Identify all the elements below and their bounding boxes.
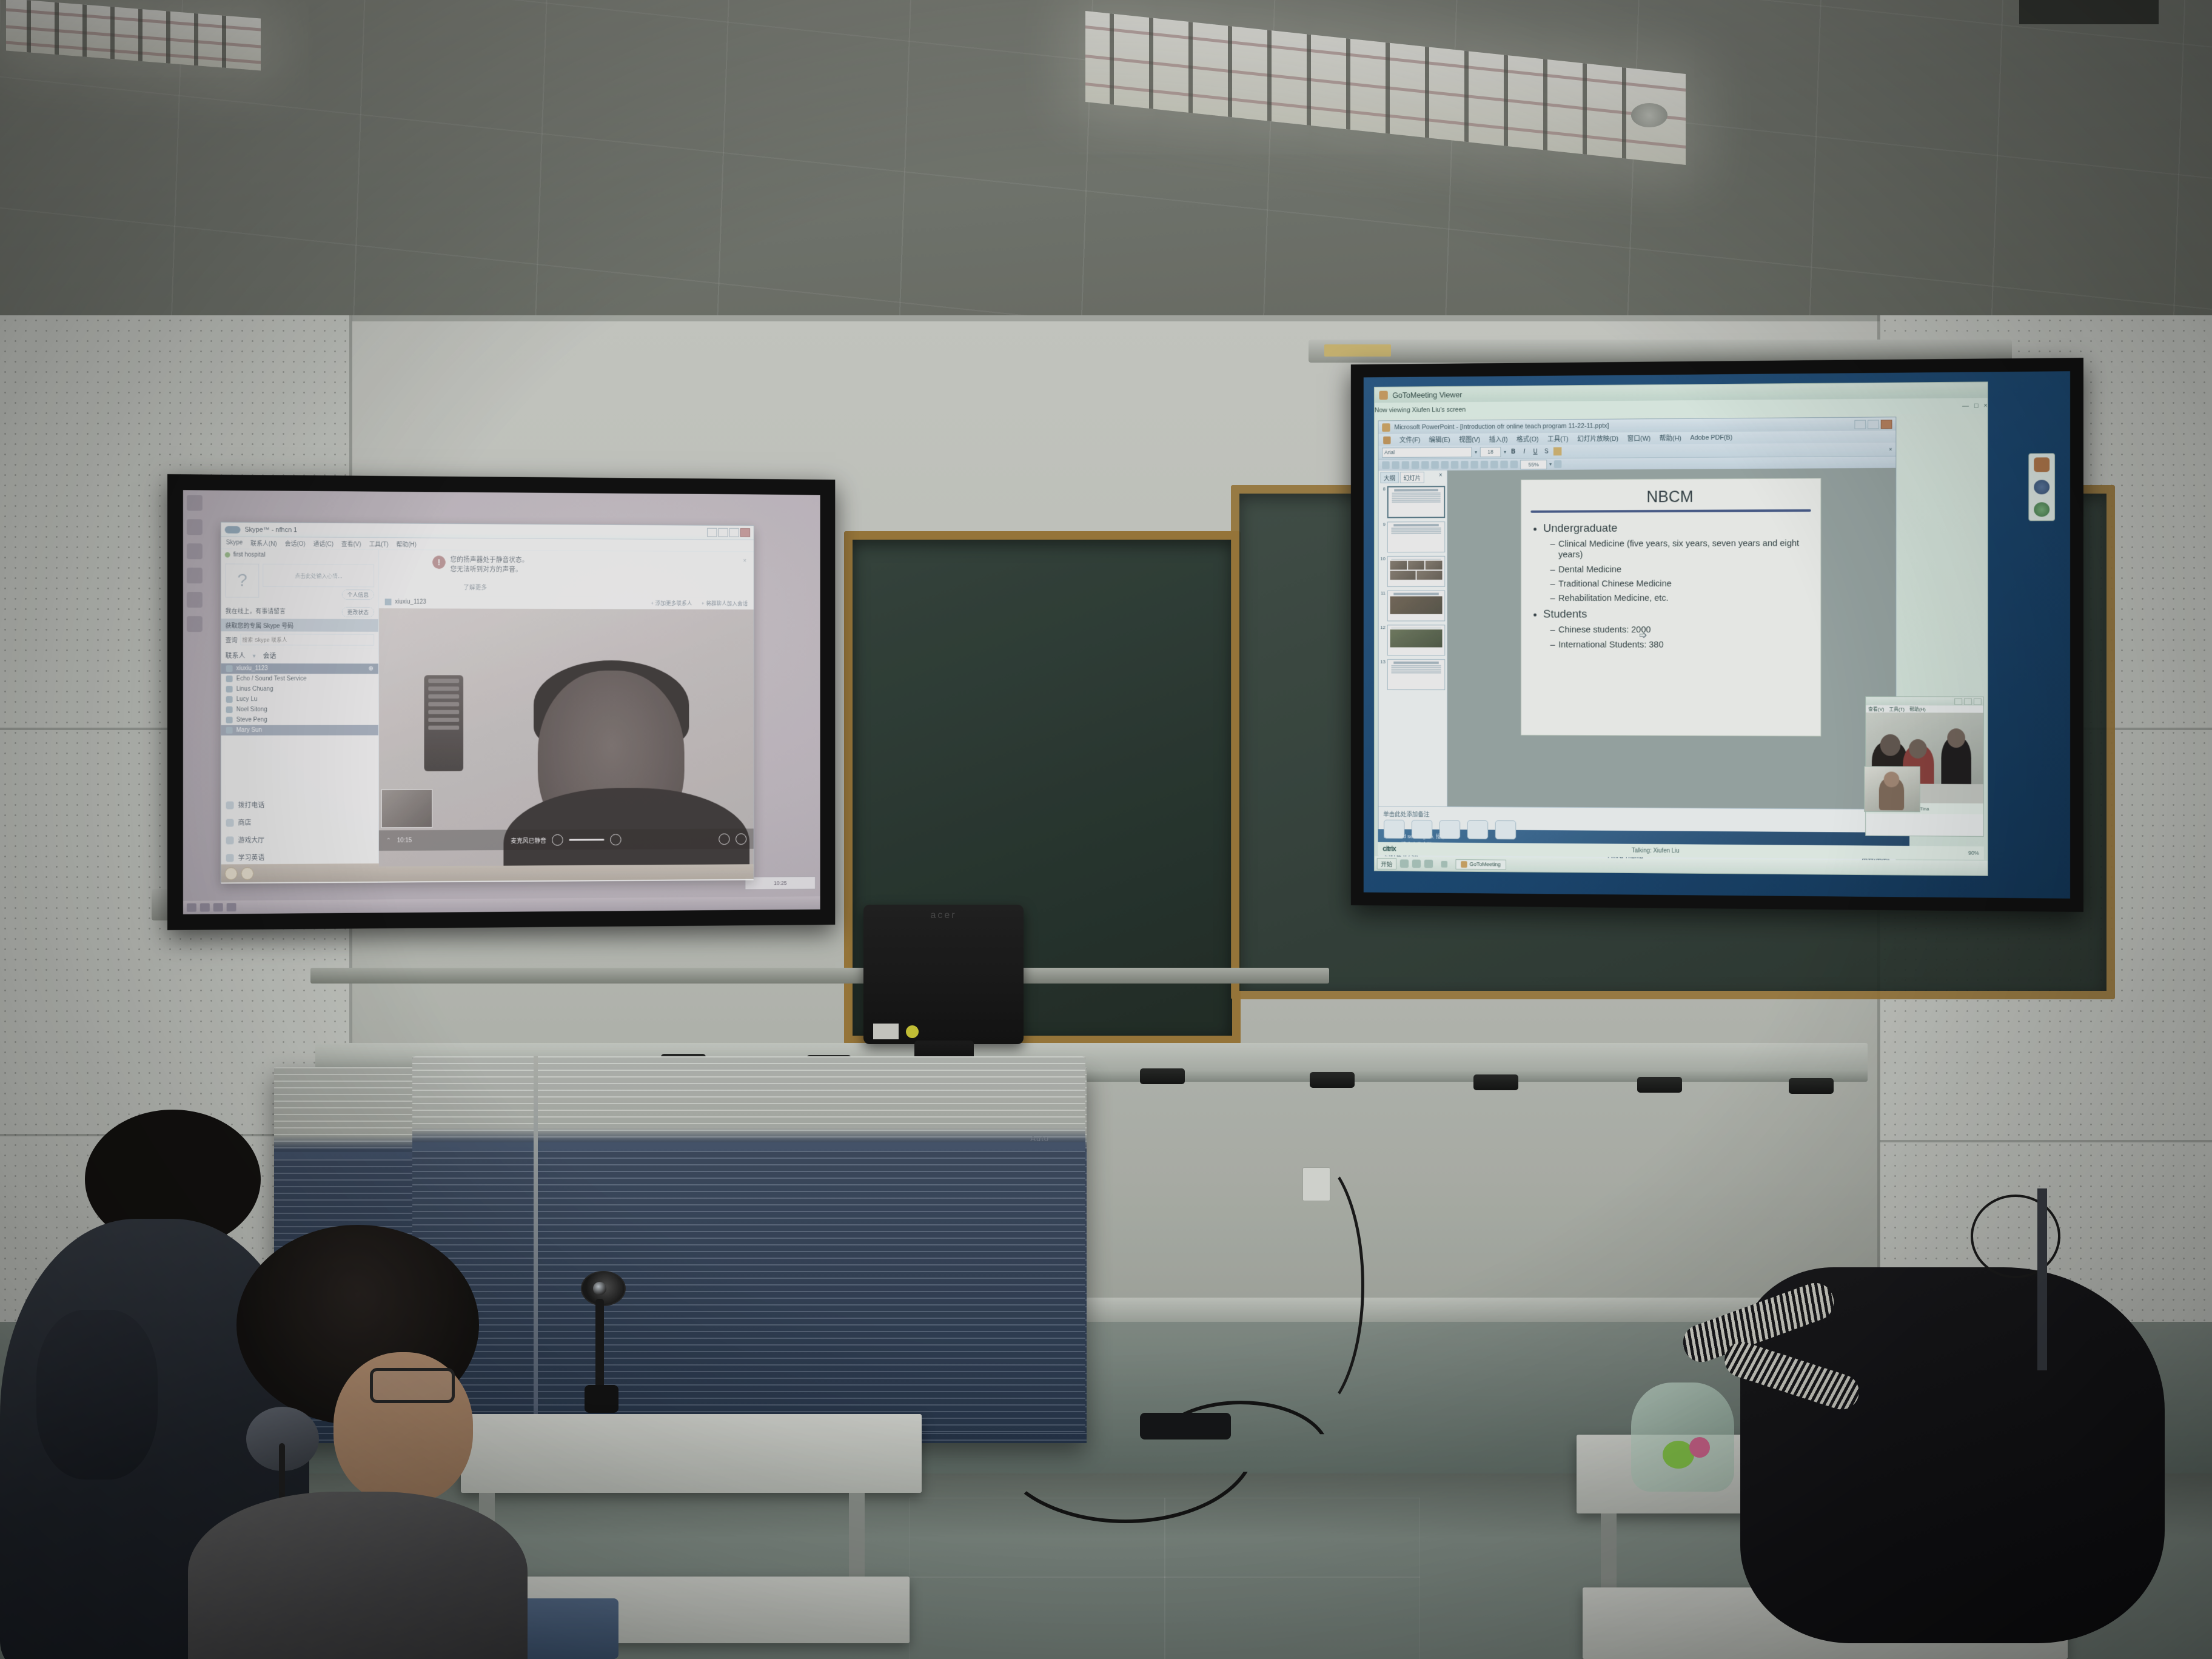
slide-thumbnail[interactable]: 9 <box>1379 520 1447 554</box>
skype-menu-item-0[interactable]: Skype <box>226 540 243 546</box>
ppt-menu-2[interactable]: 视图(V) <box>1459 435 1480 444</box>
slide-thumbnail[interactable]: 8 <box>1379 484 1447 520</box>
cable-coil <box>1140 1413 1231 1439</box>
skype-main-pane: ! 您的扬声器处于静音状态。 您无法听到对方的声音。 × 了解更多 xiuxiu… <box>379 550 754 883</box>
underline-button[interactable]: U <box>1531 447 1539 456</box>
contact-name-5: Steve Peng <box>236 717 267 723</box>
skype-account-name: first hospital <box>233 552 266 558</box>
ppt-menu-7[interactable]: 窗口(W) <box>1627 434 1651 443</box>
end-call-button[interactable] <box>736 833 746 845</box>
contact-avatar-icon <box>226 706 233 713</box>
current-slide: NBCM Undergraduate Clinical Medicine (fi… <box>1521 478 1821 736</box>
contact-row[interactable]: Linus Chuang <box>221 684 378 694</box>
contact-name-4: Noel Sitong <box>236 706 267 713</box>
call-controls[interactable]: ⌃ 10:15 麦克风已静音 <box>379 829 754 851</box>
gotomeeting-icon <box>1379 390 1387 400</box>
save-icon[interactable] <box>1402 461 1409 469</box>
contact-name-2: Linus Chuang <box>236 686 273 692</box>
copy-icon[interactable] <box>1451 461 1458 469</box>
mood-message-text: 点击此处输入心情... <box>295 571 343 579</box>
book-icon <box>226 854 234 862</box>
tab-conversations[interactable]: 会话 <box>263 651 276 660</box>
font-name-select[interactable]: Arial <box>1382 447 1472 458</box>
ppt-menu-9[interactable]: Adobe PDF(B) <box>1690 434 1732 441</box>
dock-icon-pdf[interactable] <box>1439 820 1460 839</box>
call-timer: 10:15 <box>397 837 412 844</box>
slide-bullet-1: Students Chinese students: 2000 Internat… <box>1543 608 1811 651</box>
ceiling <box>0 0 2212 340</box>
sidebar-item-store[interactable]: 商店 <box>221 813 378 831</box>
tab-slides[interactable]: 幻灯片 <box>1400 472 1424 483</box>
phone-icon <box>226 665 233 672</box>
webcam-menu-1[interactable]: 工具(T) <box>1889 706 1905 712</box>
dock-icon-browser[interactable] <box>1384 820 1404 839</box>
webcam-panel-menu[interactable]: 查看(V) 工具(T) 帮助(H) <box>1866 705 1983 712</box>
speaker <box>1473 1074 1518 1090</box>
italic-button[interactable]: I <box>1520 447 1528 456</box>
add-contacts-button[interactable]: + 添加更多联系人 <box>651 599 692 607</box>
wall-top-trim <box>352 315 1880 321</box>
slide-bullet-text-0: Undergraduate <box>1543 522 1617 535</box>
webcam-menu-0[interactable]: 查看(V) <box>1868 706 1884 712</box>
game-icon <box>226 836 234 844</box>
spellcheck-icon[interactable] <box>1431 461 1438 469</box>
redo-icon[interactable] <box>1481 461 1488 469</box>
thumb-number-2: 10 <box>1380 556 1386 561</box>
slide-bullet-list: Undergraduate Clinical Medicine (five ye… <box>1530 521 1811 651</box>
speaker <box>1789 1078 1834 1094</box>
ppt-menu-1[interactable]: 编辑(E) <box>1429 435 1450 444</box>
panel-seam-h4 <box>1880 1140 2212 1142</box>
ppt-menu-5[interactable]: 工具(T) <box>1547 434 1569 444</box>
skype-menu-item-4[interactable]: 查看(V) <box>341 539 361 548</box>
gtm-maximize-button[interactable]: □ <box>1974 402 1979 409</box>
conversation-contact-name: xiuxiu_1123 <box>395 598 426 605</box>
contact-name-3: Lucy Lu <box>236 696 258 703</box>
ppt-menu-3[interactable]: 插入(I) <box>1489 434 1508 444</box>
volume-slider[interactable] <box>569 839 605 840</box>
monitor-sticker <box>873 1024 899 1039</box>
camera-lens-icon <box>593 1282 606 1295</box>
wall-outlet <box>1302 1167 1330 1201</box>
start-button[interactable]: 开始 <box>1377 858 1396 870</box>
contact-avatar-icon <box>226 727 233 734</box>
skype-sidebar[interactable]: first hospital ? 点击此处输入心情... 个人信息 <box>221 549 379 883</box>
student-desk-left <box>461 1414 922 1493</box>
skype-pin-button[interactable] <box>707 528 717 537</box>
video-call-area: ⌃ 10:15 麦克风已静音 <box>379 608 754 866</box>
skype-menu-item-2[interactable]: 会话(O) <box>285 538 306 548</box>
slide-thumbnail[interactable]: 10 <box>1379 554 1447 589</box>
skype-menu-item-5[interactable]: 工具(T) <box>369 539 388 548</box>
font-color-button[interactable] <box>1631 447 1640 455</box>
cut-icon[interactable] <box>1441 461 1449 469</box>
contact-avatar-icon <box>226 696 233 703</box>
left-desktop-tray: 10:25 <box>745 876 816 890</box>
webcam-close-button[interactable] <box>1974 698 1982 705</box>
emoticon-icon <box>241 867 254 880</box>
dock-icon-mail[interactable] <box>1495 820 1517 840</box>
print-preview-icon[interactable] <box>1421 461 1429 469</box>
contact-row[interactable]: Lucy Lu <box>221 694 378 705</box>
new-file-icon[interactable] <box>1382 461 1389 469</box>
quicklaunch-explorer-icon[interactable] <box>1412 860 1421 868</box>
office-logo-icon <box>1383 436 1390 444</box>
paste-icon[interactable] <box>1461 461 1468 469</box>
slide-subbullet: International Students: 380 <box>1550 640 1811 651</box>
ppt-menu-0[interactable]: 文件(F) <box>1399 435 1420 444</box>
webcam-panel-title-bar[interactable] <box>1866 697 1983 705</box>
insert-table-icon[interactable] <box>1490 461 1498 469</box>
decrease-font-button[interactable] <box>1620 447 1629 455</box>
contact-avatar-icon <box>226 717 233 723</box>
student-front-center <box>188 1225 528 1659</box>
fullscreen-button[interactable] <box>719 833 729 845</box>
audio-button-icon[interactable] <box>2034 480 2049 494</box>
screen-share-button-icon[interactable] <box>2034 502 2049 517</box>
slide-panel-tabs[interactable]: 大纲 幻灯片 × <box>1379 471 1447 484</box>
speaker-icon[interactable] <box>610 834 621 845</box>
notes-placeholder: 单击此处添加备注 <box>1383 811 1429 818</box>
gotomeeting-side-toolbar[interactable] <box>2028 453 2055 521</box>
new-slide-icon[interactable] <box>1510 461 1518 469</box>
mood-message-field[interactable]: 点击此处输入心情... <box>263 564 374 588</box>
citrix-logo: citrix <box>1382 845 1396 853</box>
contact-name-6: Mary Sun <box>236 727 262 734</box>
sidebar-label-3: 学习英语 <box>238 853 265 862</box>
sidebar-label-2: 游戏大厅 <box>238 835 265 845</box>
console-auto-label: Auto <box>1030 1134 1049 1143</box>
taskbar-window-gotomeeting[interactable]: GoToMeeting <box>1456 859 1506 870</box>
skype-window[interactable]: Skype™ - nfhcn 1 Skype 联系人(N) 会话(O) 通话(C… <box>221 522 754 883</box>
classroom-webcam <box>575 1271 626 1423</box>
student-arm <box>36 1310 158 1480</box>
slide-subbullet: Dental Medicine <box>1550 564 1811 575</box>
microphone-icon[interactable] <box>552 834 563 845</box>
quicklaunch-browser-icon[interactable] <box>1400 859 1409 868</box>
skype-maximize-button[interactable] <box>729 528 739 537</box>
left-taskbar-time: 10:25 <box>774 880 787 886</box>
projection-screen-left: 10:25 Skype™ - nfhcn 1 Skype <box>167 474 835 930</box>
speaker <box>1637 1077 1682 1093</box>
dock-icon-notes[interactable] <box>1467 820 1489 840</box>
mouse-cursor-icon: ➩ <box>1639 629 1647 642</box>
contact-avatar-icon <box>226 675 233 682</box>
screen-case-label <box>1324 344 1391 357</box>
contact-name-1: Echo / Sound Test Service <box>236 675 307 682</box>
store-icon <box>226 819 234 826</box>
left-desktop-icons <box>187 495 203 632</box>
viewer-zoom-badge[interactable]: 90% <box>1968 850 1979 856</box>
contact-row-selected[interactable]: xiuxiu_1123 ⊕ <box>221 663 378 674</box>
skype-status-text: 我在线上，有事请留言 <box>226 606 286 615</box>
undo-icon[interactable] <box>1470 461 1478 469</box>
profile-button[interactable]: 个人信息 <box>342 589 374 600</box>
monitor-brand-label: acer <box>863 910 1024 921</box>
skype-number-banner[interactable]: 获取您的专属 Skype 号码 <box>221 618 378 632</box>
slide-thumbnail-panel[interactable]: 大纲 幻灯片 × 8 9 <box>1379 471 1448 806</box>
student-torso <box>188 1492 528 1659</box>
number-list-button[interactable] <box>1598 447 1606 455</box>
contact-row-highlight[interactable]: Mary Sun <box>221 725 378 736</box>
gtm-close-button[interactable]: × <box>1983 402 1987 409</box>
slide-thumbnail[interactable]: 12 <box>1379 623 1447 657</box>
skype-menu-item-6[interactable]: 帮助(H) <box>396 539 416 548</box>
gtm-minimize-button[interactable]: — <box>1962 402 1969 409</box>
now-viewing-label: Now viewing Xiufen Liu's screen <box>1375 406 1466 414</box>
wall-rail <box>310 968 1329 984</box>
speaker-muted-alert: ! 您的扬声器处于静音状态。 您无法听到对方的声音。 × <box>379 550 754 578</box>
thumb-number-3: 11 <box>1380 591 1386 596</box>
skype-close-button[interactable] <box>740 528 750 537</box>
speaker <box>1140 1068 1185 1084</box>
self-view-thumbnail[interactable] <box>381 789 432 828</box>
skype-window-title: Skype™ - nfhcn 1 <box>244 526 297 533</box>
ceiling-sensor <box>1631 103 1667 127</box>
slide-subbullet: Traditional Chinese Medicine <box>1550 578 1811 590</box>
thumb-number-1: 9 <box>1380 521 1386 527</box>
close-icon[interactable]: × <box>743 557 746 576</box>
webcam-video-feed-small <box>1865 766 1920 811</box>
slide-bullet-text-1: Students <box>1543 608 1587 621</box>
avatar[interactable]: ? <box>226 563 260 597</box>
contact-avatar-icon <box>385 598 392 605</box>
desktop-dock[interactable] <box>1384 820 1516 840</box>
ppt-menu-4[interactable]: 格式(O) <box>1517 434 1538 444</box>
slide-thumbnail[interactable]: 11 <box>1379 589 1447 623</box>
increase-font-button[interactable] <box>1609 447 1618 455</box>
recording-indicator-icon[interactable] <box>2034 457 2049 472</box>
plastic-bag <box>1631 1382 1734 1492</box>
zoom-select[interactable]: 55% <box>1520 460 1547 469</box>
taskbar-explorer-window[interactable] <box>1436 859 1452 868</box>
ppt-close-button[interactable] <box>1881 420 1892 429</box>
skype-account-row[interactable]: first hospital <box>221 549 378 561</box>
ceiling-vent <box>2019 0 2159 24</box>
contact-row[interactable]: Noel Sitong <box>221 705 378 715</box>
eyeglasses-icon <box>370 1368 455 1403</box>
slide-title: NBCM <box>1530 487 1811 507</box>
font-size-select[interactable]: 18 <box>1480 447 1501 457</box>
alert-icon: ! <box>432 555 446 569</box>
skype-menu-item-3[interactable]: 通话(C) <box>313 538 333 548</box>
skype-minimize-button[interactable] <box>718 528 728 537</box>
print-icon[interactable] <box>1412 461 1419 469</box>
tab-contacts[interactable]: 联系人 <box>226 651 246 660</box>
search-input[interactable] <box>241 634 374 645</box>
webcam-base <box>585 1385 618 1413</box>
skype-tabs[interactable]: 联系人 ▾ 会话 <box>221 648 378 663</box>
bullet-list-button[interactable] <box>1587 447 1595 455</box>
contact-avatar-icon <box>226 686 233 692</box>
gotomeeting-window-title: GoToMeeting Viewer <box>1392 390 1462 400</box>
ppt-restore-button[interactable] <box>1868 420 1879 429</box>
webcam-minimize-button[interactable] <box>1964 698 1972 705</box>
align-center-button[interactable] <box>1564 447 1573 455</box>
alert-learn-more-link[interactable]: 了解更多 <box>463 582 487 591</box>
slide-canvas[interactable]: NBCM Undergraduate Clinical Medicine (fi… <box>1447 468 1895 809</box>
phone-icon <box>226 801 234 809</box>
slide-thumbnail[interactable]: 13 <box>1379 657 1447 692</box>
help-icon[interactable] <box>1554 460 1562 468</box>
webcam-panel-small[interactable] <box>1864 766 1920 812</box>
align-right-button[interactable] <box>1576 447 1584 455</box>
remote-participant-body <box>504 788 750 866</box>
skype-menu-item-1[interactable]: 联系人(N) <box>250 538 277 548</box>
powerpoint-window-title: Microsoft PowerPoint - [Introduction ofr… <box>1394 423 1609 431</box>
slide-subbullet: Chinese students: 2000 <box>1550 625 1811 636</box>
mic-status-label: 麦克风已静音 <box>511 835 546 844</box>
online-status-icon <box>225 552 230 558</box>
projection-screen-right: GoToMeeting Viewer Now viewing Xiufen Li… <box>1351 358 2083 912</box>
monitor-yellow-label <box>906 1025 919 1038</box>
tab-outline[interactable]: 大纲 <box>1380 472 1398 483</box>
thumb-number-0: 8 <box>1380 486 1386 492</box>
add-group-button[interactable]: + 将群聊人加入会话 <box>702 599 748 607</box>
emoticon-icon <box>225 867 238 880</box>
powerpoint-icon <box>1382 423 1390 432</box>
talking-status: Talking: Xiufen Liu <box>1632 847 1680 854</box>
conversation-header: xiuxiu_1123 + 添加更多联系人 + 将群聊人加入会话 <box>379 595 754 609</box>
wall-pipe <box>2037 1188 2047 1370</box>
alert-body: 您无法听到对方的声音。 <box>451 566 522 573</box>
sidebar-item-games[interactable]: 游戏大厅 <box>221 830 378 848</box>
avatar-placeholder-glyph: ? <box>237 571 247 591</box>
sidebar-item-call[interactable]: 拨打电话 <box>221 796 378 814</box>
slide-title-rule <box>1530 509 1811 513</box>
powerpoint-window[interactable]: Microsoft PowerPoint - [Introduction ofr… <box>1378 417 1897 834</box>
bold-button[interactable]: B <box>1509 447 1517 456</box>
webcam-restore-button[interactable] <box>1954 698 1962 705</box>
thumb-number-4: 12 <box>1380 625 1386 630</box>
open-file-icon[interactable] <box>1392 461 1399 469</box>
change-status-button[interactable]: 更改状态 <box>342 607 374 617</box>
shadow-button[interactable]: S <box>1543 447 1550 456</box>
skype-profile-block: ? 点击此处输入心情... 个人信息 <box>221 560 378 603</box>
alert-title: 您的扬声器处于静音状态。 <box>451 556 529 564</box>
dock-icon-folder[interactable] <box>1412 820 1432 839</box>
insert-chart-icon[interactable] <box>1500 461 1507 469</box>
ppt-menu-6[interactable]: 幻灯片放映(D) <box>1577 434 1618 443</box>
classroom-photo: 10:25 Skype™ - nfhcn 1 Skype <box>0 0 2212 1659</box>
ppt-menu-8[interactable]: 帮助(H) <box>1660 434 1681 443</box>
sidebar-label-1: 商店 <box>238 817 252 827</box>
webcam-neck <box>595 1299 604 1390</box>
taskbar-window-label: GoToMeeting <box>1470 861 1501 867</box>
slide-subbullet: Rehabilitation Medicine, etc. <box>1550 593 1811 605</box>
thumb-number-5: 13 <box>1380 659 1386 665</box>
slide-bullet-0: Undergraduate Clinical Medicine (five ye… <box>1543 521 1811 605</box>
contact-row[interactable]: Echo / Sound Test Service <box>221 674 378 684</box>
gotomeeting-icon <box>1461 861 1467 868</box>
contact-name-0: xiuxiu_1123 <box>236 665 268 672</box>
contact-row[interactable]: Steve Peng <box>221 715 378 725</box>
ppt-minimize-button[interactable] <box>1854 420 1866 429</box>
sidebar-label-0: 拨打电话 <box>238 800 265 809</box>
quicklaunch-media-icon[interactable] <box>1424 860 1433 868</box>
wall-phone-object <box>424 675 464 772</box>
speaker <box>1310 1072 1355 1088</box>
skype-search-row[interactable]: 查询 <box>221 631 378 648</box>
search-label: 查询 <box>226 635 238 644</box>
align-left-button[interactable] <box>1553 447 1561 455</box>
skype-logo-icon <box>225 526 241 533</box>
teacher-monitor: acer <box>863 905 1024 1044</box>
gotomeeting-viewer-window[interactable]: GoToMeeting Viewer Now viewing Xiufen Li… <box>1374 381 1988 876</box>
slide-subbullet: Clinical Medicine (five years, six years… <box>1550 538 1811 560</box>
webcam-menu-2[interactable]: 帮助(H) <box>1909 706 1926 712</box>
skype-status-row[interactable]: 我在线上，有事请留言 更改状态 <box>221 602 378 619</box>
